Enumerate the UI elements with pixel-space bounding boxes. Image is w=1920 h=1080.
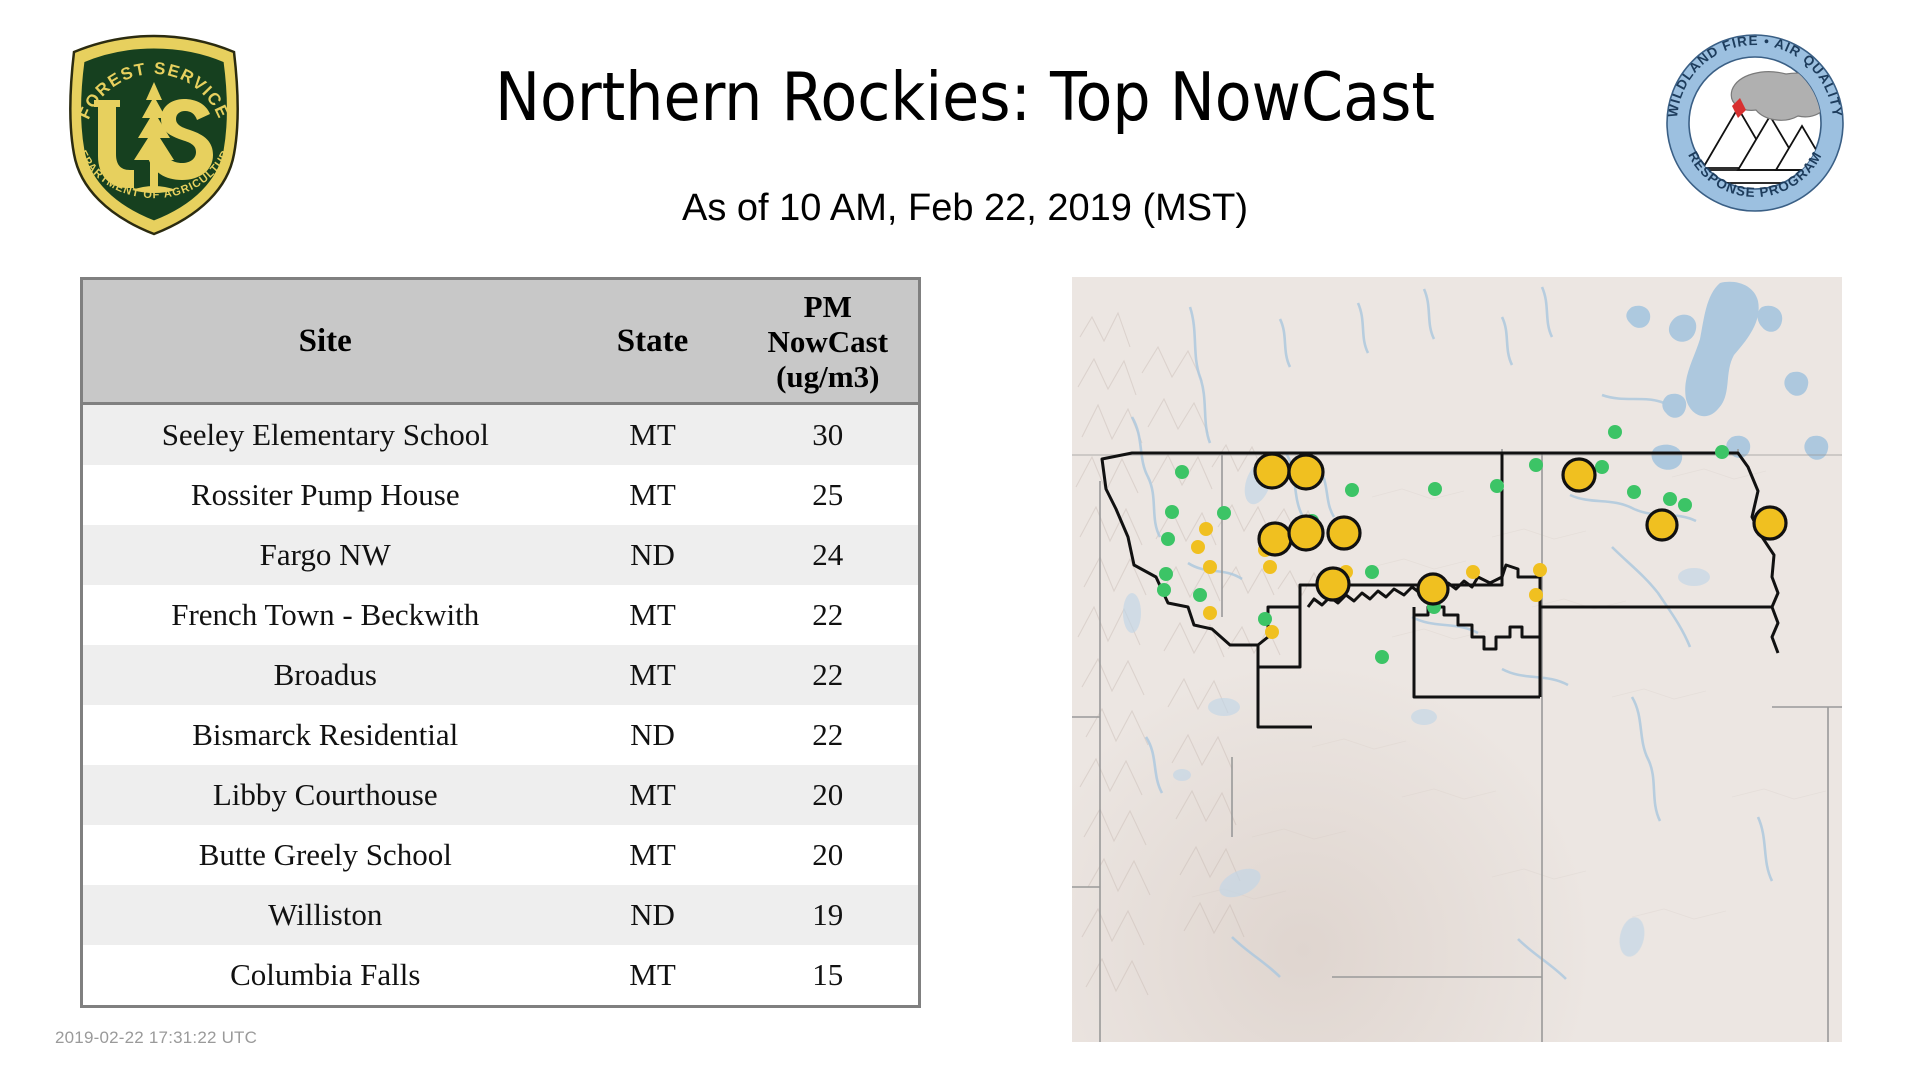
pm-header-line-1: PM	[742, 289, 915, 324]
map-marker-yellow-small[interactable]	[1529, 588, 1543, 602]
site-cell: Williston	[82, 885, 568, 945]
page-title: Northern Rockies: Top NowCast	[300, 58, 1630, 136]
map-marker-top-site[interactable]	[1418, 574, 1448, 604]
state-cell: MT	[568, 585, 738, 645]
table-row: WillistonND19	[82, 885, 920, 945]
map-marker-yellow-small[interactable]	[1263, 560, 1277, 574]
site-cell: Seeley Elementary School	[82, 404, 568, 466]
table-row: French Town - BeckwithMT22	[82, 585, 920, 645]
map-marker-yellow-small[interactable]	[1466, 565, 1480, 579]
table-row: BroadusMT22	[82, 645, 920, 705]
pm-value-cell: 19	[738, 885, 920, 945]
map-marker-green[interactable]	[1175, 465, 1189, 479]
header-band: FOREST SERVICE DEPARTMENT OF AGRICULTURE	[0, 0, 1920, 272]
page-subtitle: As of 10 AM, Feb 22, 2019 (MST)	[300, 185, 1630, 231]
map-marker-green[interactable]	[1595, 460, 1609, 474]
map-marker-green[interactable]	[1365, 565, 1379, 579]
site-cell: Broadus	[82, 645, 568, 705]
pm-value-cell: 30	[738, 404, 920, 466]
table-row: Bismarck ResidentialND22	[82, 705, 920, 765]
map-marker-yellow-small[interactable]	[1199, 522, 1213, 536]
nowcast-table-container: Site State PM NowCast (ug/m3) Seeley Ele…	[80, 277, 918, 1008]
table-header-row: Site State PM NowCast (ug/m3)	[82, 279, 920, 404]
site-cell: Fargo NW	[82, 525, 568, 585]
table-row: Rossiter Pump HouseMT25	[82, 465, 920, 525]
map-marker-green[interactable]	[1159, 567, 1173, 581]
map-marker-green[interactable]	[1157, 583, 1171, 597]
table-row: Libby CourthouseMT20	[82, 765, 920, 825]
site-cell: Rossiter Pump House	[82, 465, 568, 525]
map-marker-top-site[interactable]	[1289, 516, 1323, 550]
pm-value-cell: 15	[738, 945, 920, 1007]
pm-value-cell: 22	[738, 705, 920, 765]
map-marker-green[interactable]	[1258, 612, 1272, 626]
map-marker-top-site[interactable]	[1259, 523, 1291, 555]
pm-header-line-2: NowCast	[742, 324, 915, 359]
map-marker-green[interactable]	[1165, 505, 1179, 519]
pm-value-cell: 22	[738, 585, 920, 645]
map-marker-green[interactable]	[1715, 445, 1729, 459]
state-cell: MT	[568, 465, 738, 525]
footer-timestamp: 2019-02-22 17:31:22 UTC	[55, 1028, 257, 1048]
map-marker-green[interactable]	[1678, 498, 1692, 512]
pm-value-cell: 25	[738, 465, 920, 525]
site-cell: Libby Courthouse	[82, 765, 568, 825]
map-marker-yellow-small[interactable]	[1533, 563, 1547, 577]
map-marker-green[interactable]	[1428, 482, 1442, 496]
pm-value-cell: 22	[738, 645, 920, 705]
state-cell: MT	[568, 825, 738, 885]
map-marker-green[interactable]	[1627, 485, 1641, 499]
pm-value-cell: 20	[738, 765, 920, 825]
map-marker-green[interactable]	[1345, 483, 1359, 497]
table-row: Columbia FallsMT15	[82, 945, 920, 1007]
map-marker-green[interactable]	[1490, 479, 1504, 493]
map-marker-green[interactable]	[1161, 532, 1175, 546]
column-header-state: State	[568, 279, 738, 404]
map-marker-green[interactable]	[1375, 650, 1389, 664]
column-header-site: Site	[82, 279, 568, 404]
state-cell: MT	[568, 765, 738, 825]
map-marker-top-site[interactable]	[1317, 568, 1349, 600]
map-marker-yellow-small[interactable]	[1265, 625, 1279, 639]
nowcast-table: Site State PM NowCast (ug/m3) Seeley Ele…	[80, 277, 921, 1008]
map-marker-top-site[interactable]	[1255, 454, 1289, 488]
map-marker-green[interactable]	[1529, 458, 1543, 472]
site-cell: French Town - Beckwith	[82, 585, 568, 645]
site-cell: Bismarck Residential	[82, 705, 568, 765]
map-marker-yellow-small[interactable]	[1191, 540, 1205, 554]
state-cell: MT	[568, 645, 738, 705]
map-marker-green[interactable]	[1217, 506, 1231, 520]
forest-service-shield-logo: FOREST SERVICE DEPARTMENT OF AGRICULTURE	[54, 30, 254, 240]
table-row: Seeley Elementary SchoolMT30	[82, 404, 920, 466]
wildland-fire-air-quality-badge: WILDLAND FIRE • AIR QUALITY RESPONSE PRO…	[1660, 28, 1850, 218]
pm-header-line-3: (ug/m3)	[742, 359, 915, 394]
map-marker-green[interactable]	[1608, 425, 1622, 439]
state-cell: MT	[568, 945, 738, 1007]
map-marker-top-site[interactable]	[1328, 517, 1360, 549]
map-marker-top-site[interactable]	[1754, 507, 1786, 539]
table-row: Fargo NWND24	[82, 525, 920, 585]
map-marker-yellow-small[interactable]	[1203, 560, 1217, 574]
map-marker-green[interactable]	[1193, 588, 1207, 602]
monitor-map-panel[interactable]	[1072, 277, 1842, 1042]
map-marker-green[interactable]	[1663, 492, 1677, 506]
table-body: Seeley Elementary SchoolMT30Rossiter Pum…	[82, 404, 920, 1007]
map-marker-top-site[interactable]	[1647, 510, 1677, 540]
pm-value-cell: 24	[738, 525, 920, 585]
map-relief-southwest	[1072, 277, 1842, 1042]
state-cell: ND	[568, 705, 738, 765]
column-header-pm-nowcast: PM NowCast (ug/m3)	[738, 279, 920, 404]
state-cell: ND	[568, 885, 738, 945]
state-cell: MT	[568, 404, 738, 466]
map-marker-yellow-small[interactable]	[1203, 606, 1217, 620]
pm-value-cell: 20	[738, 825, 920, 885]
state-cell: ND	[568, 525, 738, 585]
map-marker-top-site[interactable]	[1563, 459, 1595, 491]
site-cell: Butte Greely School	[82, 825, 568, 885]
map-marker-top-site[interactable]	[1289, 455, 1323, 489]
table-row: Butte Greely SchoolMT20	[82, 825, 920, 885]
site-cell: Columbia Falls	[82, 945, 568, 1007]
